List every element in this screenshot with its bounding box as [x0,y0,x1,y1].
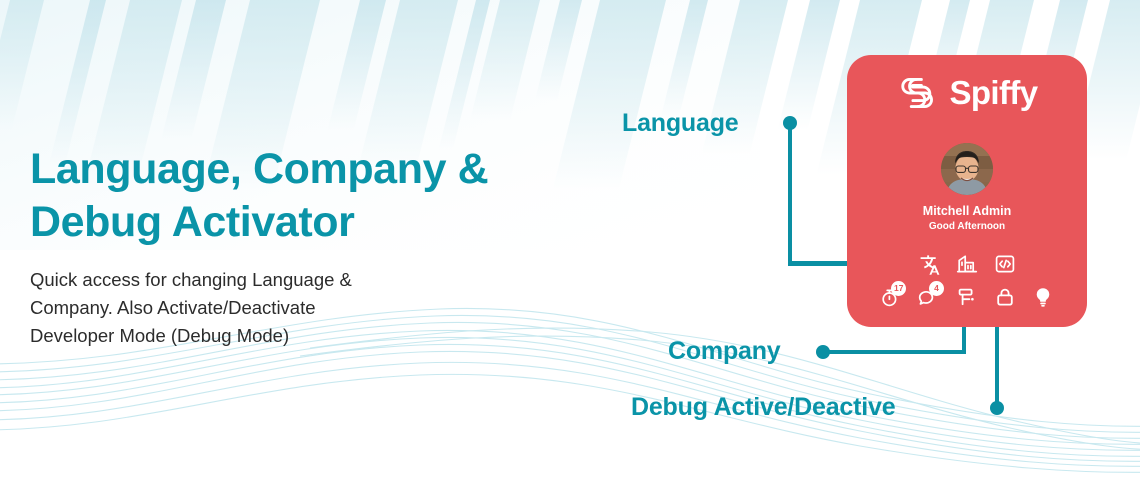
secondary-icon-row: 17 4 [847,286,1087,308]
callout-label-company: Company [668,337,781,366]
callout-label-language: Language [622,109,738,138]
activity-clock-icon[interactable]: 17 [880,286,902,308]
page-description: Quick access for changing Language & Com… [30,266,490,350]
primary-icon-row [847,253,1087,275]
headline-line-1: Language, Company & [30,143,550,196]
translate-icon[interactable] [918,253,940,275]
activity-badge: 17 [891,281,906,296]
page-title: Language, Company & Debug Activator [30,143,550,249]
spiffy-paperclip-logo-icon [896,71,940,115]
lock-icon[interactable] [994,286,1016,308]
user-systray-card: Spiffy [847,55,1087,327]
promo-banner: Language, Company & Debug Activator Quic… [0,0,1140,500]
messages-chat-icon[interactable]: 4 [918,286,940,308]
messages-badge: 4 [929,281,944,296]
brand-name: Spiffy [949,74,1037,112]
brand-header: Spiffy [847,71,1087,115]
lightbulb-icon[interactable] [1032,286,1054,308]
company-building-icon[interactable] [956,253,978,275]
headline-line-2: Debug Activator [30,196,550,249]
description-line-1: Quick access for changing Language & [30,266,490,294]
callout-leader-company-horizontal [823,350,966,355]
tools-settings-icon[interactable] [956,286,978,308]
description-line-3: Developer Mode (Debug Mode) [30,322,490,350]
greeting-text: Good Afternoon [847,221,1087,232]
callout-leader-language-vertical [788,123,793,265]
description-line-2: Company. Also Activate/Deactivate [30,294,490,322]
callout-label-debug: Debug Active/Deactive [631,393,895,422]
avatar[interactable] [941,143,993,195]
debug-code-icon[interactable] [994,253,1016,275]
user-name: Mitchell Admin [847,204,1087,218]
